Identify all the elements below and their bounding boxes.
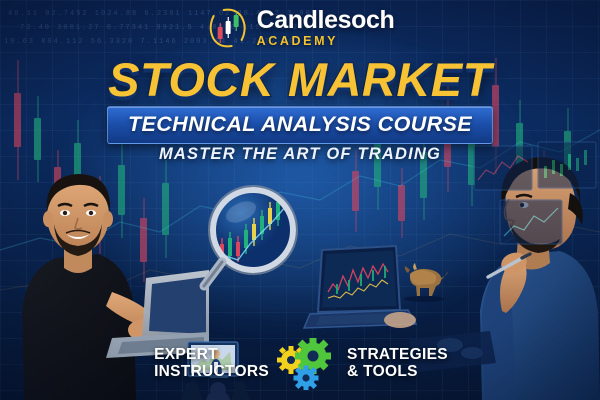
feature-expert-instructors: EXPERT INSTRUCTORS xyxy=(154,347,269,380)
tagline: MASTER THE ART OF TRADING xyxy=(0,145,600,164)
subtitle-text: TECHNICAL ANALYSIS COURSE xyxy=(128,112,472,136)
feature-2-line2: & TOOLS xyxy=(347,364,448,381)
feature-2-line1: STRATEGIES xyxy=(347,347,448,364)
feature-row: EXPERT INSTRUCTORS xyxy=(0,334,600,394)
feature-strategies-tools: STRATEGIES & TOOLS xyxy=(347,347,448,380)
candlestick-chart-icon xyxy=(206,6,250,50)
bronze-bull-statue xyxy=(396,256,452,302)
feature-1-line2: INSTRUCTORS xyxy=(154,364,269,381)
brand-logo[interactable]: Candlesoch ACADEMY xyxy=(206,6,395,50)
logo-name: Candlesoch xyxy=(257,8,395,33)
feature-1-line1: EXPERT xyxy=(154,347,269,364)
subtitle-bar: TECHNICAL ANALYSIS COURSE xyxy=(107,106,493,144)
gears-icon xyxy=(277,338,339,390)
page-title: STOCK MARKET xyxy=(0,52,600,107)
gear-blue xyxy=(294,366,319,391)
promotional-banner: 48.11 02.7452 1024.88 6.2381 1147.02 88.… xyxy=(0,0,600,400)
magnifying-glass-over-chart xyxy=(196,182,312,298)
logo-subtitle: ACADEMY xyxy=(257,35,395,48)
